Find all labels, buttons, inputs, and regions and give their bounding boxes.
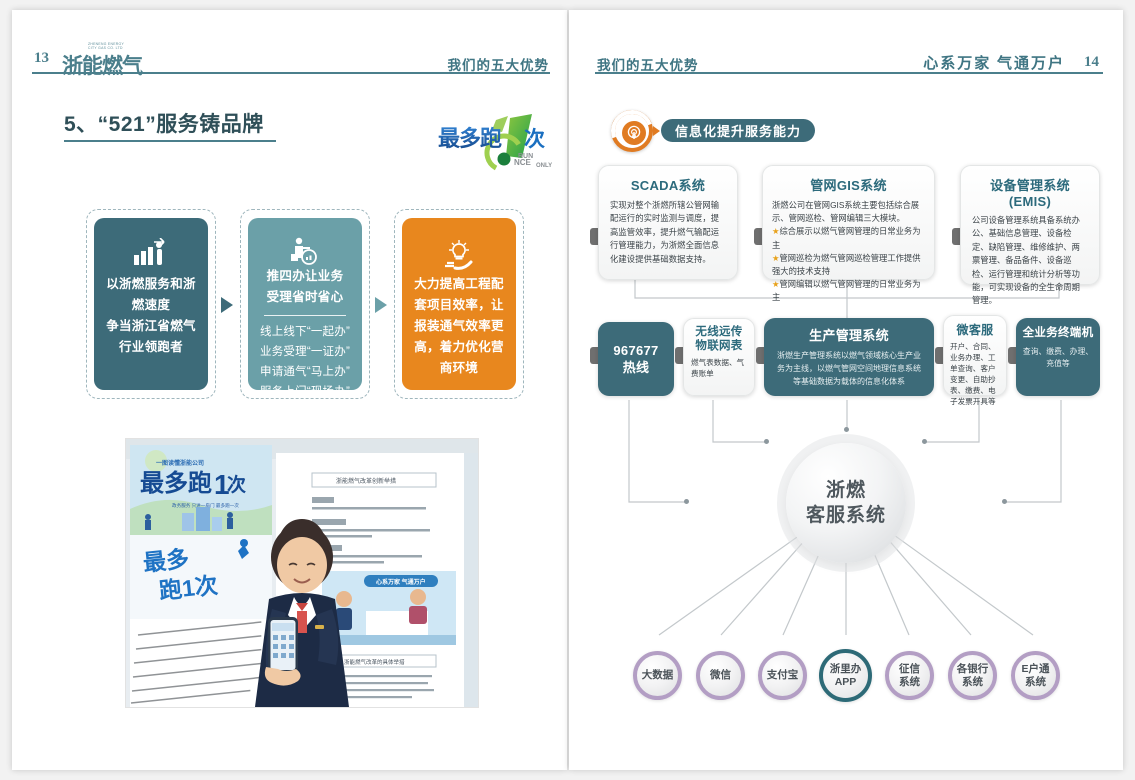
right-page: 我们的五大优势 心系万家 气通万户 14 信息化提升服务能力	[569, 10, 1123, 770]
system-box-production[interactable]: 生产管理系统 浙燃生产管理系统以燃气领域核心生产业务为主线，以燃气管网空间地理信…	[764, 318, 934, 396]
channel-banks[interactable]: 各银行 系统	[948, 651, 997, 700]
wire-dot	[844, 427, 849, 432]
svg-text:NCE: NCE	[514, 158, 532, 167]
run-once-logo: 最多跑 次 RUN NCE ONLY	[436, 112, 560, 176]
channel-ehutong[interactable]: E户通 系统	[1011, 651, 1060, 700]
svg-text:浙能燃气改革创新举措: 浙能燃气改革创新举措	[336, 477, 396, 485]
advantage-card-3-title: 大力提高工程配套项目效率，让报装通气效率更高，着力优化营商环境	[402, 274, 516, 379]
company-logo: ZHENENG ENERGYCITY GAS CO. LTD 浙能燃气	[62, 42, 142, 80]
flow-arrow-2	[375, 297, 387, 313]
service-person-icon	[248, 226, 362, 266]
system-box-production-body: 浙燃生产管理系统以燃气领域核心生产业务为主线，以燃气管网空间地理信息系统等基础数…	[774, 349, 924, 388]
channel-bigdata[interactable]: 大数据	[633, 651, 682, 700]
hub-line-2: 客服系统	[806, 503, 886, 528]
wire-dot	[1002, 499, 1007, 504]
left-page-number: 13	[34, 50, 49, 67]
system-box-scada[interactable]: SCADA系统 实现对整个浙燃所辖公管网输配运行的实时监测与调度，提高监管效率，…	[598, 165, 738, 280]
bar-chart-person-icon	[94, 228, 208, 268]
system-box-scada-body: 实现对整个浙燃所辖公管网输配运行的实时监测与调度，提高监管效率，提升燃气输配运行…	[610, 199, 726, 266]
flow-arrow-1	[221, 297, 233, 313]
left-page: 13 ZHENENG ENERGYCITY GAS CO. LTD 浙能燃气 我…	[12, 10, 567, 770]
left-page-header: 13 ZHENENG ENERGYCITY GAS CO. LTD 浙能燃气 我…	[12, 10, 567, 70]
advantage-card-1-title: 以浙燃服务和浙燃速度争当浙江省燃气行业领跑者	[94, 274, 208, 358]
system-box-emis[interactable]: 设备管理系统 (EMIS) 公司设备管理系统具备系统办公、基础信息管理、设备检定…	[960, 165, 1100, 285]
advantage-card-1[interactable]: 以浙燃服务和浙燃速度争当浙江省燃气行业领跑者	[94, 218, 208, 390]
system-box-emis-body: 公司设备管理系统具备系统办公、基础信息管理、设备检定、缺陷管理、维修维护、两票管…	[972, 214, 1088, 308]
company-logo-cn: 浙能燃气	[62, 50, 142, 80]
advantage-card-2-sub: 线上线下“一起办”业务受理“一证办”申请通气“马上办”服务上门“现场办”	[248, 322, 362, 402]
channel-zhelib-app[interactable]: 浙里办 APP	[819, 649, 872, 702]
system-box-wechat-service-title: 微客服	[950, 321, 1000, 338]
system-box-terminal-title: 全业务终端机	[1022, 324, 1094, 340]
system-box-iot-meter[interactable]: 无线远传物联网表 燃气表数据、气费账单	[683, 318, 755, 396]
system-box-gis[interactable]: 管网GIS系统 浙燃公司在管网GIS系统主要包括综合展示、管网巡检、管网编辑三大…	[762, 165, 935, 280]
system-box-hotline[interactable]: 967677热线	[598, 322, 674, 396]
section-title-underline	[64, 140, 276, 142]
channel-alipay[interactable]: 支付宝	[758, 651, 807, 700]
wire-dot	[922, 439, 927, 444]
svg-text:心系万家 气通万户: 心系万家 气通万户	[376, 578, 426, 586]
system-box-emis-title: 设备管理系统 (EMIS)	[972, 175, 1088, 209]
left-header-title: 我们的五大优势	[448, 54, 550, 74]
section-title: 5、“521”服务铸品牌	[64, 108, 264, 138]
wire-dot	[764, 439, 769, 444]
exhibition-photo: 一图读懂浙能公司 最多跑 1 次 政务服务 只进一扇门 最多跑一次 最多 跑1次	[125, 438, 479, 708]
svg-text:浙能燃气改革的具体举措: 浙能燃气改革的具体举措	[344, 658, 405, 666]
bulb-hand-icon	[402, 230, 516, 270]
channel-wechat[interactable]: 微信	[696, 651, 745, 700]
magazine-spread: 13 ZHENENG ENERGYCITY GAS CO. LTD 浙能燃气 我…	[0, 0, 1135, 780]
system-box-gis-title: 管网GIS系统	[772, 175, 925, 194]
hub-line-1: 浙燃	[826, 478, 866, 503]
svg-text:最多: 最多	[142, 545, 190, 576]
system-box-gis-bullets: ★综合展示以燃气管网管理的日常业务为主 ★管网巡检为燃气管网巡检管理工作提供强大…	[772, 225, 925, 304]
system-box-wechat-service-body: 开户、合同、业务办理、工单查询、客户变更、自助抄表、缴费、电子发票开具等	[950, 341, 1000, 407]
system-box-terminal[interactable]: 全业务终端机 查询、缴费、办理、充值等	[1016, 318, 1100, 396]
svg-text:最多跑: 最多跑	[140, 469, 212, 497]
svg-text:次: 次	[227, 473, 246, 496]
system-box-gis-body: 浙燃公司在管网GIS系统主要包括综合展示、管网巡检、管网编辑三大模块。	[772, 199, 925, 225]
svg-text:次: 次	[524, 127, 545, 151]
system-box-terminal-body: 查询、缴费、办理、充值等	[1022, 346, 1094, 369]
advantage-card-2-title: 推四办让业务受理省时省心	[248, 266, 362, 308]
card-2-divider	[264, 315, 346, 316]
system-box-hotline-title: 967677热线	[613, 342, 658, 376]
system-box-wechat-service[interactable]: 微客服 开户、合同、业务办理、工单查询、客户变更、自助抄表、缴费、电子发票开具等	[943, 315, 1007, 396]
system-box-production-title: 生产管理系统	[774, 325, 924, 344]
svg-text:一图读懂浙能公司: 一图读懂浙能公司	[156, 459, 204, 467]
advantage-card-2[interactable]: 推四办让业务受理省时省心 线上线下“一起办”业务受理“一证办”申请通气“马上办”…	[248, 218, 362, 390]
company-logo-en: ZHENENG ENERGYCITY GAS CO. LTD	[88, 42, 142, 50]
advantage-card-3[interactable]: 大力提高工程配套项目效率，让报装通气效率更高，着力优化营商环境	[402, 218, 516, 390]
hub-circle: 浙燃 客服系统	[786, 443, 906, 563]
system-box-scada-title: SCADA系统	[610, 175, 726, 194]
svg-text:ONLY: ONLY	[536, 163, 552, 169]
wire-dot	[684, 499, 689, 504]
system-box-iot-meter-title: 无线远传物联网表	[691, 325, 747, 353]
system-box-iot-meter-body: 燃气表数据、气费账单	[691, 357, 747, 379]
svg-text:最多跑: 最多跑	[438, 126, 502, 151]
channel-credit[interactable]: 征信 系统	[885, 651, 934, 700]
